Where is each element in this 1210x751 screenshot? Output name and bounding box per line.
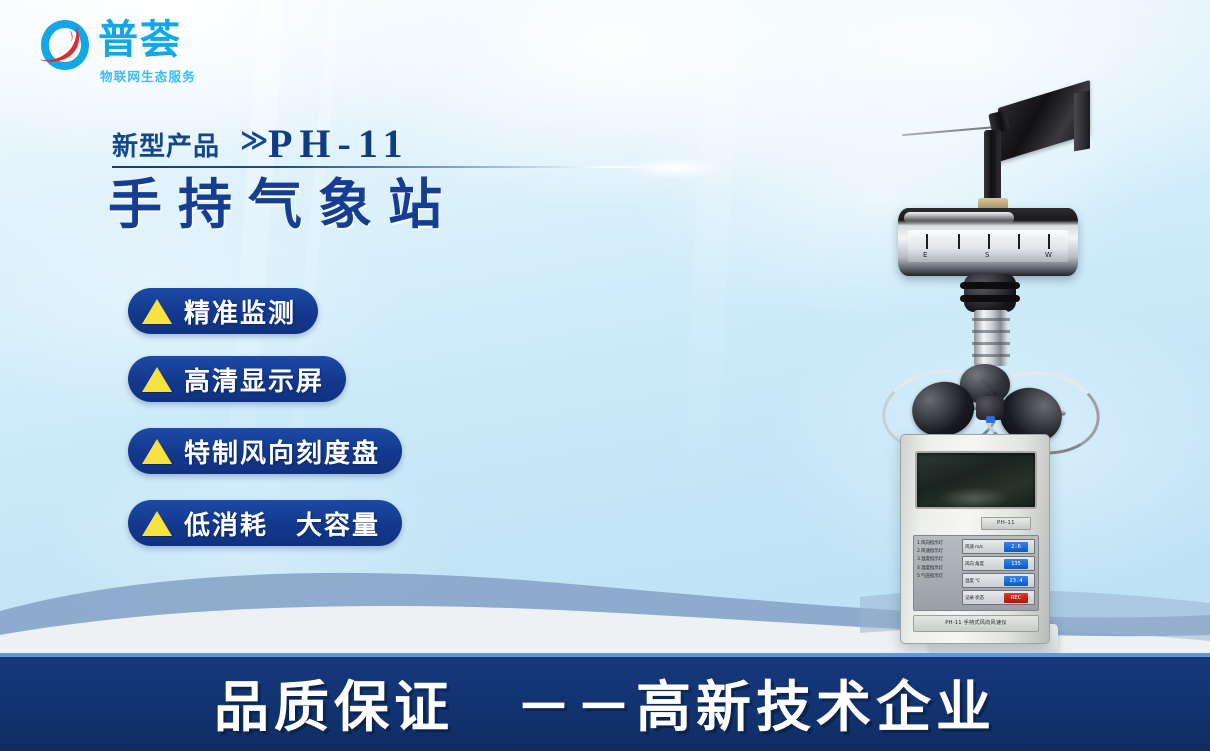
triangle-bullet-icon — [142, 511, 172, 536]
product-image: E S W — [838, 86, 1138, 660]
readout-value: 135 — [1004, 559, 1028, 569]
wind-vane-tail-icon — [1074, 91, 1090, 152]
readout-row[interactable]: 风向 角度 135 — [962, 556, 1035, 571]
feature-label: 低消耗 大容量 — [184, 505, 380, 542]
readout-label: 记录 状态 — [965, 595, 984, 601]
light-shaft — [673, 0, 742, 660]
footer-text-row: 品质保证 －－高新技术企业 — [0, 657, 1210, 747]
readout-label: 风速 m/s — [965, 544, 983, 550]
console-brandbar: PH-11 手持式风向风速仪 — [913, 615, 1039, 632]
indicator-legend: 1 风向指示灯 2 风速指示灯 3 温度指示灯 4 湿度指示灯 5 气压指示灯 — [917, 540, 961, 606]
hub-indicator — [986, 416, 995, 423]
feature-badge[interactable]: 低消耗 大容量 — [128, 500, 402, 546]
legend-item: 3 温度指示灯 — [917, 556, 961, 564]
hero-kicker-row: 新型产品 ≫ PH-11 — [112, 126, 672, 166]
title-divider — [112, 166, 672, 168]
joint-ring — [960, 282, 1020, 289]
feature-label: 高清显示屏 — [184, 361, 324, 398]
brand-logo: 普荟 物联网生态服务 — [36, 14, 266, 80]
readout-label: 风向 角度 — [965, 561, 984, 567]
legend-item: 1 风向指示灯 — [917, 540, 961, 548]
feature-badge[interactable]: 特制风向刻度盘 — [128, 428, 402, 474]
readout-row[interactable]: 温度 ℃ 23.4 — [962, 573, 1035, 588]
dial-face: E S W — [908, 230, 1068, 262]
circle-swoosh-logo-icon — [36, 16, 94, 74]
triangle-bullet-icon — [142, 367, 172, 392]
footer-left-text: 品质保证 — [214, 662, 454, 742]
rubber-joint — [964, 274, 1016, 312]
brand-tagline: 物联网生态服务 — [100, 66, 196, 85]
feature-label: 特制风向刻度盘 — [184, 433, 380, 470]
readout-value: 2.6 — [1004, 542, 1028, 552]
footer-right-text: －－高新技术企业 — [516, 662, 996, 742]
chevron-double-right-icon: ≫ — [240, 125, 268, 156]
footer-banner: 品质保证 －－高新技术企业 — [0, 653, 1210, 751]
dial-highlight — [904, 212, 1014, 224]
direction-dial-icon: E S W — [898, 208, 1078, 276]
model-plate-text: PH-11 — [982, 518, 1030, 529]
joint-ring — [960, 295, 1020, 302]
triangle-bullet-icon — [142, 439, 172, 464]
dial-tick-label: E — [923, 251, 927, 259]
readout-list: 风速 m/s 2.6 风向 角度 135 温度 ℃ 23.4 记录 状态 REC — [962, 539, 1035, 607]
readout-value: REC — [1004, 593, 1028, 603]
readout-row[interactable]: 记录 状态 REC — [962, 590, 1035, 605]
readout-value: 23.4 — [1004, 576, 1028, 586]
hero-model-number: PH-11 — [268, 120, 410, 167]
lcd-glow — [939, 487, 1009, 509]
page-title: 手持气象站 — [108, 172, 458, 238]
handheld-console-icon[interactable]: PH-11 1 风向指示灯 2 风速指示灯 3 温度指示灯 4 湿度指示灯 5 … — [900, 434, 1050, 644]
feature-badge[interactable]: 精准监测 — [128, 288, 318, 334]
legend-item: 5 气压指示灯 — [917, 573, 961, 581]
readout-label: 温度 ℃ — [965, 578, 980, 584]
hero-kicker: 新型产品 — [112, 126, 220, 163]
readout-row[interactable]: 风速 m/s 2.6 — [962, 539, 1035, 554]
legend-item: 2 风速指示灯 — [917, 548, 961, 556]
console-brandbar-text: PH-11 手持式风向风速仪 — [914, 616, 1038, 631]
legend-item: 4 湿度指示灯 — [917, 565, 961, 573]
control-panel[interactable]: 1 风向指示灯 2 风速指示灯 3 温度指示灯 4 湿度指示灯 5 气压指示灯 … — [913, 535, 1039, 611]
product-banner: 普荟 物联网生态服务 新型产品 ≫ PH-11 手持气象站 精准监测 高清显示屏… — [0, 0, 1210, 751]
brand-name: 普荟 — [98, 18, 182, 62]
model-plate: PH-11 — [981, 517, 1031, 530]
lens-flare — [600, 152, 750, 184]
dial-tick-label: S — [985, 251, 989, 259]
wind-vane-stem — [984, 130, 1001, 202]
feature-label: 精准监测 — [184, 293, 296, 330]
dial-tick-label: W — [1045, 251, 1052, 259]
feature-badge[interactable]: 高清显示屏 — [128, 356, 346, 402]
lcd-display — [915, 451, 1037, 509]
triangle-bullet-icon — [142, 299, 172, 324]
